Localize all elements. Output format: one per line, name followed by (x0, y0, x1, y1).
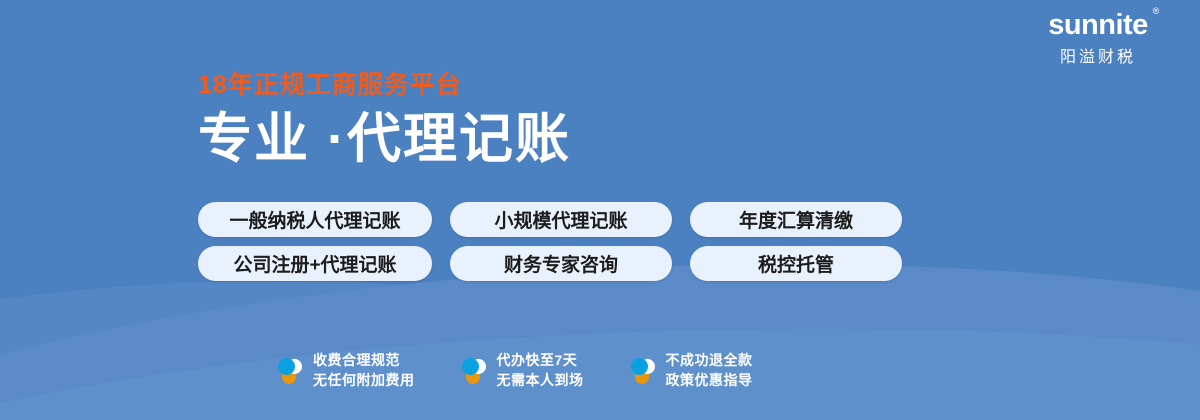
feature-line-2: 无任何附加费用 (313, 370, 415, 390)
dot-shape (462, 358, 479, 375)
feature-item-pricing: 收费合理规范 无任何附加费用 (276, 350, 415, 391)
feature-line-1: 不成功退全款 (666, 350, 753, 370)
service-pill-row: 一般纳税人代理记账 小规模代理记账 年度汇算清缴 (198, 202, 902, 237)
dot-crescent-drop-icon (629, 355, 657, 385)
logo-wordmark-text: sunnite (1048, 9, 1148, 41)
feature-line-1: 收费合理规范 (313, 350, 415, 370)
feature-strip: 收费合理规范 无任何附加费用 代办快至7天 无需本人到场 不成功退全款 (276, 350, 753, 391)
logo-chinese-name: 阳溢财税 (1018, 43, 1178, 67)
service-pill-row: 公司注册+代理记账 财务专家咨询 税控托管 (198, 246, 902, 281)
dot-shape (631, 358, 648, 375)
headline-block: 18年正规工商服务平台 专业 ·代理记账 (198, 72, 571, 169)
brand-logo[interactable]: sunnite ® 阳溢财税 (1018, 10, 1178, 67)
feature-item-speed: 代办快至7天 无需本人到场 (460, 350, 584, 391)
dot-crescent-drop-icon (276, 355, 304, 385)
feature-text-pricing: 收费合理规范 无任何附加费用 (313, 350, 415, 391)
service-pill-group: 一般纳税人代理记账 小规模代理记账 年度汇算清缴 公司注册+代理记账 财务专家咨… (198, 202, 902, 281)
service-pill-general-taxpayer[interactable]: 一般纳税人代理记账 (198, 202, 432, 237)
feature-text-guarantee: 不成功退全款 政策优惠指导 (666, 350, 753, 391)
service-pill-tax-control[interactable]: 税控托管 (690, 246, 902, 281)
page-title: 专业 ·代理记账 (198, 109, 571, 169)
service-pill-company-registration[interactable]: 公司注册+代理记账 (198, 246, 432, 281)
eyebrow-text: 18年正规工商服务平台 (198, 72, 571, 100)
dot-crescent-drop-icon (460, 355, 488, 385)
feature-item-guarantee: 不成功退全款 政策优惠指导 (629, 350, 753, 391)
logo-wordmark: sunnite ® (1048, 10, 1148, 40)
feature-text-speed: 代办快至7天 无需本人到场 (497, 350, 584, 391)
registered-trademark-icon: ® (1153, 7, 1159, 16)
promo-banner: sunnite ® 阳溢财税 18年正规工商服务平台 专业 ·代理记账 一般纳税… (0, 0, 1200, 420)
service-pill-expert-consulting[interactable]: 财务专家咨询 (450, 246, 672, 281)
feature-line-1: 代办快至7天 (497, 350, 584, 370)
feature-line-2: 政策优惠指导 (666, 370, 753, 390)
service-pill-annual-settlement[interactable]: 年度汇算清缴 (690, 202, 902, 237)
service-pill-small-scale[interactable]: 小规模代理记账 (450, 202, 672, 237)
feature-line-2: 无需本人到场 (497, 370, 584, 390)
